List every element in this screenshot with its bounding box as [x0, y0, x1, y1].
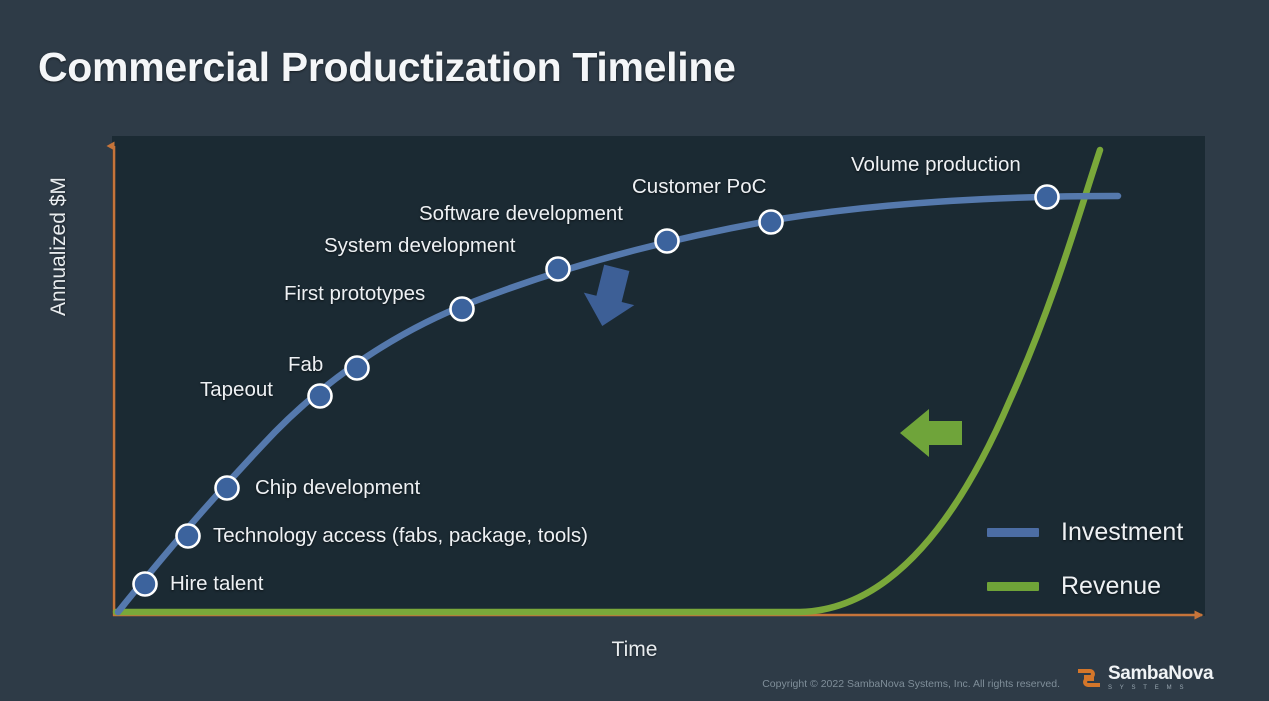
page-title: Commercial Productization Timeline: [38, 44, 736, 91]
milestone-label-volume-production: Volume production: [851, 153, 1021, 177]
milestone-label-customer-poc: Customer PoC: [632, 175, 766, 199]
logo-name: SambaNova: [1108, 664, 1213, 683]
logo-subtitle: S Y S T E M S: [1108, 685, 1213, 691]
milestone-label-fab: Fab: [288, 353, 323, 377]
legend-label-investment: Investment: [1061, 518, 1183, 547]
milestone-label-tapeout: Tapeout: [200, 378, 273, 402]
legend-swatch-investment: [987, 528, 1039, 537]
milestone-label-software-development: Software development: [419, 202, 623, 226]
legend-swatch-revenue: [987, 582, 1039, 591]
milestone-label-chip-development: Chip development: [255, 476, 420, 500]
y-axis-label: Annualized $M: [46, 226, 72, 316]
legend-item-investment: Investment: [987, 518, 1183, 547]
sambanova-wordmark: SambaNova S Y S T E M S: [1108, 664, 1213, 691]
sambanova-mark-icon: [1076, 665, 1102, 691]
milestone-label-first-prototypes: First prototypes: [284, 282, 425, 306]
milestone-label-system-development: System development: [324, 234, 515, 258]
legend-item-revenue: Revenue: [987, 572, 1161, 601]
sambanova-logo: SambaNova S Y S T E M S: [1076, 664, 1213, 691]
legend-label-revenue: Revenue: [1061, 572, 1161, 601]
x-axis-label: Time: [0, 638, 1269, 662]
copyright-text: Copyright © 2022 SambaNova Systems, Inc.…: [0, 678, 1060, 690]
slide-root: Commercial Productization Timeline: [0, 0, 1269, 701]
milestone-label-hire-talent: Hire talent: [170, 572, 263, 596]
milestone-label-technology-access: Technology access (fabs, package, tools): [213, 524, 588, 548]
